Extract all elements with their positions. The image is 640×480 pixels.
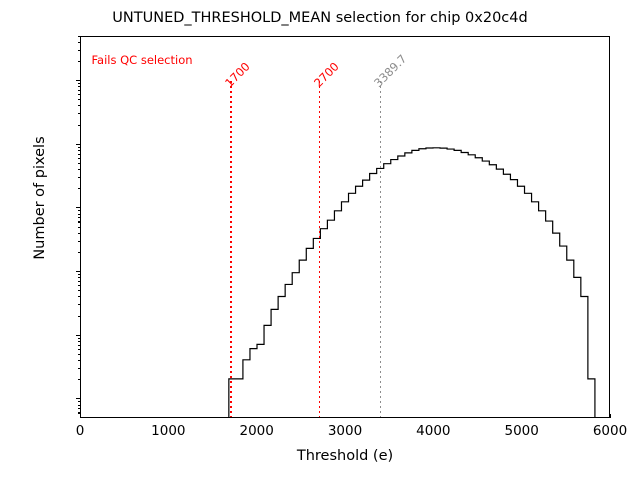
x-tick-label: 4000 [416,423,450,439]
x-tick-label: 0 [76,423,85,439]
x-axis-label: Threshold (e) [80,448,610,464]
x-tick-label: 2000 [239,423,273,439]
plot-area [80,36,610,418]
threshold-line-3389-7 [380,81,382,417]
x-tick-label: 5000 [504,423,538,439]
threshold-line-1700 [230,81,232,417]
x-tick-label: 1000 [151,423,185,439]
histogram-series [81,37,609,417]
chart-figure: UNTUNED_THRESHOLD_MEAN selection for chi… [0,0,640,480]
page-title: UNTUNED_THRESHOLD_MEAN selection for chi… [0,10,640,26]
qc-annotation: Fails QC selection [91,53,192,67]
x-tick-label: 3000 [328,423,362,439]
histogram-outline [229,148,595,417]
x-tick-label: 6000 [593,423,627,439]
threshold-line-2700 [319,81,321,417]
y-axis-label: Number of pixels [32,7,48,389]
